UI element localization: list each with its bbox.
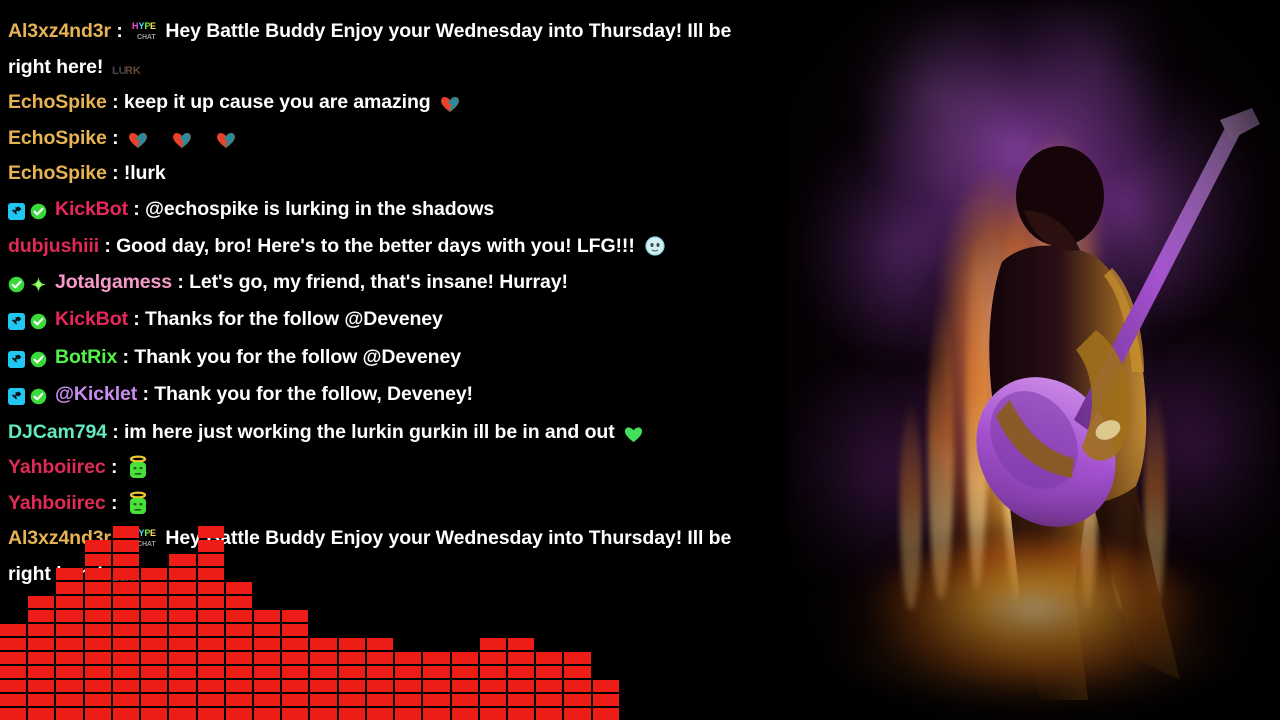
equalizer-segment xyxy=(198,526,224,538)
chat-message-text: Thank you for the follow @Deveney xyxy=(134,346,461,368)
equalizer-segment xyxy=(28,624,54,636)
equalizer-segment xyxy=(85,596,111,608)
equalizer-segment xyxy=(169,624,195,636)
equalizer-bar xyxy=(56,568,82,720)
chat-message[interactable]: Jotalgamess : Let's go, my friend, that'… xyxy=(8,265,752,303)
equalizer-segment xyxy=(198,652,224,664)
svg-text:H: H xyxy=(132,21,138,31)
vignette-layer xyxy=(788,0,1280,720)
equalizer-segment xyxy=(113,638,139,650)
equalizer-segment xyxy=(85,680,111,692)
chat-message[interactable]: KickBot : @echospike is lurking in the s… xyxy=(8,192,752,230)
broken-heart-emote[interactable] xyxy=(127,130,149,150)
equalizer-segment xyxy=(480,638,506,650)
equalizer-segment xyxy=(141,638,167,650)
equalizer-bar xyxy=(310,638,336,720)
svg-text:E: E xyxy=(150,21,156,31)
equalizer-segment xyxy=(198,540,224,552)
equalizer-segment xyxy=(282,666,308,678)
equalizer-segment xyxy=(508,652,534,664)
chat-message[interactable]: BotRix : Thank you for the follow @Deven… xyxy=(8,340,752,378)
chat-separator: : xyxy=(172,271,189,293)
equalizer-bar xyxy=(198,526,224,720)
equalizer-segment xyxy=(226,652,252,664)
chat-username[interactable]: KickBot xyxy=(55,308,128,330)
equalizer-segment xyxy=(226,596,252,608)
chat-separator: : xyxy=(128,198,145,220)
equalizer-segment xyxy=(339,638,365,650)
ghost-emote[interactable] xyxy=(643,234,667,258)
equalizer-segment xyxy=(28,610,54,622)
equalizer-segment xyxy=(226,638,252,650)
chat-message-text: @echospike is lurking in the shadows xyxy=(145,198,494,220)
equalizer-segment xyxy=(593,708,619,720)
equalizer-bar xyxy=(423,652,449,720)
halo-face-emote[interactable] xyxy=(126,491,150,515)
equalizer-segment xyxy=(28,694,54,706)
chat-message-list[interactable]: Al3xz4nd3r : HYPECHAT Hey Battle Buddy E… xyxy=(0,0,760,580)
equalizer-segment xyxy=(310,638,336,650)
equalizer-segment xyxy=(85,554,111,566)
equalizer-segment xyxy=(0,652,26,664)
equalizer-segment xyxy=(310,666,336,678)
chat-separator: : xyxy=(107,91,124,113)
equalizer-segment xyxy=(339,652,365,664)
equalizer-segment xyxy=(367,666,393,678)
svg-text:E: E xyxy=(150,528,156,538)
equalizer-segment xyxy=(452,708,478,720)
equalizer-segment xyxy=(536,708,562,720)
equalizer-segment xyxy=(480,652,506,664)
badge-group xyxy=(8,194,52,230)
chat-message[interactable]: dubjushiii : Good day, bro! Here's to th… xyxy=(8,229,752,265)
equalizer-segment xyxy=(254,708,280,720)
chat-separator: : xyxy=(117,346,134,368)
equalizer-segment xyxy=(56,708,82,720)
equalizer-segment xyxy=(169,554,195,566)
equalizer-segment xyxy=(113,694,139,706)
equalizer-bar xyxy=(254,610,280,720)
chat-username[interactable]: EchoSpike xyxy=(8,91,107,113)
chat-separator: : xyxy=(107,162,124,184)
equalizer-segment xyxy=(339,680,365,692)
equalizer-segment xyxy=(226,708,252,720)
audio-spectrum-visualizer xyxy=(0,560,788,720)
equalizer-segment xyxy=(254,680,280,692)
chat-separator: : xyxy=(106,456,123,478)
chat-message[interactable]: EchoSpike : keep it up cause you are ama… xyxy=(8,85,752,121)
equalizer-segment xyxy=(536,666,562,678)
equalizer-bar xyxy=(564,652,590,720)
equalizer-segment xyxy=(56,694,82,706)
chat-message[interactable]: Yahboiirec : xyxy=(8,486,752,522)
moderator-badge[interactable] xyxy=(8,313,25,330)
chat-username[interactable]: Al3xz4nd3r xyxy=(8,20,111,42)
equalizer-segment xyxy=(141,582,167,594)
equalizer-segment xyxy=(169,652,195,664)
equalizer-segment xyxy=(367,638,393,650)
equalizer-segment xyxy=(28,652,54,664)
chat-username[interactable]: EchoSpike xyxy=(8,162,107,184)
equalizer-segment xyxy=(508,680,534,692)
equalizer-segment xyxy=(508,708,534,720)
chat-separator: : xyxy=(99,235,116,257)
equalizer-segment xyxy=(0,680,26,692)
equalizer-segment xyxy=(310,652,336,664)
chat-message[interactable]: Al3xz4nd3r : HYPECHAT Hey Battle Buddy E… xyxy=(8,14,752,85)
equalizer-bar xyxy=(367,638,393,720)
green-heart-emote[interactable] xyxy=(623,424,644,444)
moderator-badge[interactable] xyxy=(8,388,25,405)
equalizer-segment xyxy=(85,568,111,580)
halo-face-emote[interactable] xyxy=(126,455,150,479)
equalizer-segment xyxy=(85,694,111,706)
equalizer-segment xyxy=(113,652,139,664)
moderator-badge[interactable] xyxy=(8,203,25,220)
equalizer-segment xyxy=(395,708,421,720)
broken-heart-emote[interactable] xyxy=(171,130,193,150)
equalizer-segment xyxy=(198,708,224,720)
badge-group xyxy=(8,304,52,340)
equalizer-segment xyxy=(141,568,167,580)
equalizer-segment xyxy=(56,624,82,636)
chat-username[interactable]: Yahboiirec xyxy=(8,492,106,514)
equalizer-segment xyxy=(564,652,590,664)
equalizer-segment xyxy=(169,638,195,650)
equalizer-segment xyxy=(56,610,82,622)
equalizer-segment xyxy=(113,666,139,678)
equalizer-segment xyxy=(198,680,224,692)
equalizer-segment xyxy=(0,708,26,720)
equalizer-segment xyxy=(423,694,449,706)
equalizer-segment xyxy=(282,638,308,650)
chat-separator: : xyxy=(107,127,124,149)
equalizer-segment xyxy=(254,666,280,678)
equalizer-segment xyxy=(452,694,478,706)
equalizer-segment xyxy=(198,554,224,566)
equalizer-segment xyxy=(56,568,82,580)
equalizer-segment xyxy=(198,638,224,650)
equalizer-segment xyxy=(141,624,167,636)
equalizer-segment xyxy=(395,666,421,678)
equalizer-segment xyxy=(113,568,139,580)
chat-username[interactable]: Jotalgamess xyxy=(55,271,172,293)
equalizer-segment xyxy=(452,666,478,678)
equalizer-bar xyxy=(508,638,534,720)
equalizer-segment xyxy=(254,694,280,706)
equalizer-segment xyxy=(56,582,82,594)
equalizer-segment xyxy=(508,666,534,678)
equalizer-segment xyxy=(85,540,111,552)
moderator-badge[interactable] xyxy=(8,351,25,368)
equalizer-segment xyxy=(310,694,336,706)
equalizer-segment xyxy=(226,624,252,636)
equalizer-segment xyxy=(56,652,82,664)
equalizer-segment xyxy=(169,610,195,622)
equalizer-segment xyxy=(367,694,393,706)
verified-badge[interactable] xyxy=(30,313,47,330)
equalizer-segment xyxy=(423,708,449,720)
equalizer-segment xyxy=(564,680,590,692)
chat-message-text: !lurk xyxy=(124,162,166,184)
equalizer-segment xyxy=(226,582,252,594)
chat-message-text: im here just working the lurkin gurkin i… xyxy=(124,421,615,443)
equalizer-segment xyxy=(282,610,308,622)
badge-group xyxy=(8,342,52,378)
equalizer-segment xyxy=(480,666,506,678)
equalizer-segment xyxy=(536,652,562,664)
equalizer-segment xyxy=(56,596,82,608)
equalizer-segment xyxy=(198,694,224,706)
equalizer-segment xyxy=(282,652,308,664)
equalizer-segment xyxy=(423,680,449,692)
equalizer-segment xyxy=(85,708,111,720)
equalizer-segment xyxy=(169,596,195,608)
equalizer-bar xyxy=(0,624,26,720)
equalizer-bar xyxy=(169,554,195,720)
equalizer-segment xyxy=(593,694,619,706)
broken-heart-emote[interactable] xyxy=(215,130,237,150)
chat-message-text: keep it up cause you are amazing xyxy=(124,91,431,113)
equalizer-segment xyxy=(141,694,167,706)
equalizer-segment xyxy=(85,624,111,636)
equalizer-segment xyxy=(85,652,111,664)
equalizer-bar xyxy=(141,568,167,720)
equalizer-segment xyxy=(85,582,111,594)
equalizer-segment xyxy=(593,680,619,692)
equalizer-segment xyxy=(0,666,26,678)
equalizer-segment xyxy=(198,666,224,678)
equalizer-bar xyxy=(593,680,619,720)
chat-separator: : xyxy=(128,308,145,330)
equalizer-segment xyxy=(113,708,139,720)
equalizer-segment xyxy=(564,666,590,678)
equalizer-segment xyxy=(113,526,139,538)
equalizer-segment xyxy=(141,610,167,622)
equalizer-bar xyxy=(452,652,478,720)
equalizer-segment xyxy=(480,680,506,692)
equalizer-segment xyxy=(395,680,421,692)
equalizer-segment xyxy=(367,652,393,664)
verified-badge[interactable] xyxy=(30,351,47,368)
equalizer-segment xyxy=(282,624,308,636)
chat-message[interactable]: KickBot : Thanks for the follow @Deveney xyxy=(8,302,752,340)
equalizer-bar xyxy=(395,652,421,720)
chat-message[interactable]: EchoSpike : xyxy=(8,121,752,157)
stream-overlay-stage: Al3xz4nd3r : HYPECHAT Hey Battle Buddy E… xyxy=(0,0,1280,720)
chat-message-text: Thanks for the follow @Deveney xyxy=(145,308,443,330)
equalizer-segment xyxy=(423,666,449,678)
chat-separator: : xyxy=(111,20,128,42)
equalizer-segment xyxy=(226,680,252,692)
equalizer-segment xyxy=(113,680,139,692)
equalizer-segment xyxy=(508,638,534,650)
chat-message-text: Thank you for the follow, Deveney! xyxy=(154,383,473,405)
equalizer-bar xyxy=(28,596,54,720)
equalizer-segment xyxy=(141,708,167,720)
chat-message[interactable]: @Kicklet : Thank you for the follow, Dev… xyxy=(8,377,752,415)
equalizer-segment xyxy=(395,694,421,706)
equalizer-segment xyxy=(254,624,280,636)
equalizer-segment xyxy=(198,624,224,636)
chat-message-text: Good day, bro! Here's to the better days… xyxy=(116,235,635,257)
equalizer-segment xyxy=(141,680,167,692)
equalizer-segment xyxy=(56,638,82,650)
equalizer-segment xyxy=(113,610,139,622)
equalizer-segment xyxy=(452,680,478,692)
svg-text:RK: RK xyxy=(125,65,140,77)
equalizer-segment xyxy=(113,624,139,636)
guitarist-on-fire-artwork xyxy=(788,0,1280,720)
diamond-badge[interactable] xyxy=(30,276,47,293)
chat-username[interactable]: KickBot xyxy=(55,198,128,220)
equalizer-segment xyxy=(254,638,280,650)
equalizer-segment xyxy=(226,666,252,678)
equalizer-segment xyxy=(141,596,167,608)
chat-separator: : xyxy=(106,492,123,514)
lurk-emote[interactable]: LURK xyxy=(112,59,140,79)
chat-separator: : xyxy=(137,383,154,405)
equalizer-segment xyxy=(282,680,308,692)
chat-message-text: Let's go, my friend, that's insane! Hurr… xyxy=(189,271,568,293)
verified-badge[interactable] xyxy=(30,203,47,220)
equalizer-segment xyxy=(254,610,280,622)
equalizer-segment xyxy=(536,680,562,692)
chat-username[interactable]: DJCam794 xyxy=(8,421,107,443)
equalizer-segment xyxy=(395,652,421,664)
equalizer-segment xyxy=(113,554,139,566)
chat-username[interactable]: @Kicklet xyxy=(55,383,137,405)
equalizer-segment xyxy=(169,694,195,706)
equalizer-segment xyxy=(141,666,167,678)
equalizer-segment xyxy=(198,610,224,622)
equalizer-segment xyxy=(56,680,82,692)
equalizer-segment xyxy=(564,694,590,706)
equalizer-segment xyxy=(367,708,393,720)
equalizer-segment xyxy=(56,666,82,678)
equalizer-bar xyxy=(282,610,308,720)
equalizer-segment xyxy=(0,624,26,636)
verified-badge[interactable] xyxy=(8,276,25,293)
equalizer-segment xyxy=(367,680,393,692)
equalizer-segment xyxy=(310,680,336,692)
verified-badge[interactable] xyxy=(30,388,47,405)
equalizer-segment xyxy=(282,708,308,720)
svg-text:CHAT: CHAT xyxy=(137,541,156,548)
equalizer-segment xyxy=(226,694,252,706)
equalizer-segment xyxy=(198,596,224,608)
equalizer-segment xyxy=(282,694,308,706)
equalizer-segment xyxy=(198,568,224,580)
broken-heart-emote[interactable] xyxy=(439,94,461,114)
equalizer-segment xyxy=(141,652,167,664)
equalizer-segment xyxy=(339,666,365,678)
equalizer-bar xyxy=(85,540,111,720)
equalizer-segment xyxy=(198,582,224,594)
chat-message[interactable]: Yahboiirec : xyxy=(8,450,752,486)
equalizer-segment xyxy=(85,610,111,622)
equalizer-segment xyxy=(169,708,195,720)
equalizer-segment xyxy=(423,652,449,664)
equalizer-segment xyxy=(28,638,54,650)
equalizer-segment xyxy=(480,694,506,706)
hype-emote[interactable]: HYPECHAT xyxy=(131,19,157,43)
chat-username[interactable]: dubjushiii xyxy=(8,235,99,257)
chat-username[interactable]: Yahboiirec xyxy=(8,456,106,478)
equalizer-bar xyxy=(113,526,139,720)
equalizer-segment xyxy=(169,680,195,692)
chat-username[interactable]: BotRix xyxy=(55,346,117,368)
equalizer-segment xyxy=(480,708,506,720)
equalizer-bar xyxy=(480,638,506,720)
equalizer-segment xyxy=(28,680,54,692)
badge-group xyxy=(8,379,52,415)
equalizer-segment xyxy=(113,540,139,552)
equalizer-segment xyxy=(85,638,111,650)
equalizer-bar xyxy=(226,582,252,720)
svg-text:CHAT: CHAT xyxy=(137,34,156,41)
equalizer-segment xyxy=(310,708,336,720)
equalizer-segment xyxy=(508,694,534,706)
equalizer-segment xyxy=(536,694,562,706)
equalizer-segment xyxy=(28,708,54,720)
equalizer-segment xyxy=(28,666,54,678)
equalizer-segment xyxy=(254,652,280,664)
chat-message[interactable]: DJCam794 : im here just working the lurk… xyxy=(8,415,752,451)
chat-separator: : xyxy=(107,421,124,443)
equalizer-segment xyxy=(28,596,54,608)
equalizer-bar xyxy=(339,638,365,720)
equalizer-segment xyxy=(452,652,478,664)
equalizer-bar xyxy=(536,652,562,720)
chat-username[interactable]: EchoSpike xyxy=(8,127,107,149)
equalizer-segment xyxy=(0,638,26,650)
equalizer-segment xyxy=(169,582,195,594)
equalizer-segment xyxy=(339,708,365,720)
equalizer-segment xyxy=(169,666,195,678)
equalizer-segment xyxy=(113,596,139,608)
equalizer-segment xyxy=(85,666,111,678)
equalizer-segment xyxy=(564,708,590,720)
badge-group xyxy=(8,267,52,303)
equalizer-segment xyxy=(226,610,252,622)
equalizer-segment xyxy=(169,568,195,580)
chat-message[interactable]: EchoSpike : !lurk xyxy=(8,156,752,192)
equalizer-segment xyxy=(339,694,365,706)
equalizer-segment xyxy=(0,694,26,706)
equalizer-segment xyxy=(113,582,139,594)
